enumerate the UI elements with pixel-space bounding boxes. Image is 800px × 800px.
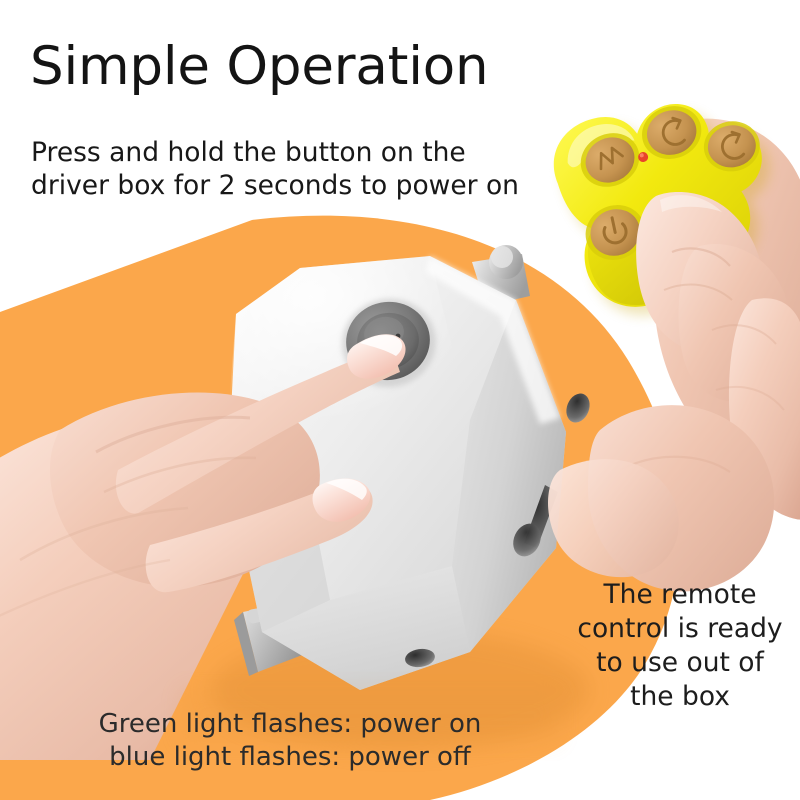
page-title: Simple Operation <box>30 36 488 98</box>
caption-right-line-3: to use out of <box>566 646 794 680</box>
caption-bottom-line-1: Green light flashes: power on <box>40 708 540 741</box>
caption-remote-ready: The remote control is ready to use out o… <box>566 578 794 714</box>
subtitle: Press and hold the button on the driver … <box>31 136 571 202</box>
subtitle-line-1: Press and hold the button on the <box>31 136 571 169</box>
caption-right-line-2: control is ready <box>566 612 794 646</box>
subtitle-line-2: driver box for 2 seconds to power on <box>31 169 571 202</box>
marketing-slide: Simple Operation Press and hold the butt… <box>0 0 800 800</box>
caption-right-line-4: the box <box>566 680 794 714</box>
caption-light-indicator: Green light flashes: power on blue light… <box>40 708 540 774</box>
caption-right-line-1: The remote <box>566 578 794 612</box>
caption-bottom-line-2: blue light flashes: power off <box>40 741 540 774</box>
